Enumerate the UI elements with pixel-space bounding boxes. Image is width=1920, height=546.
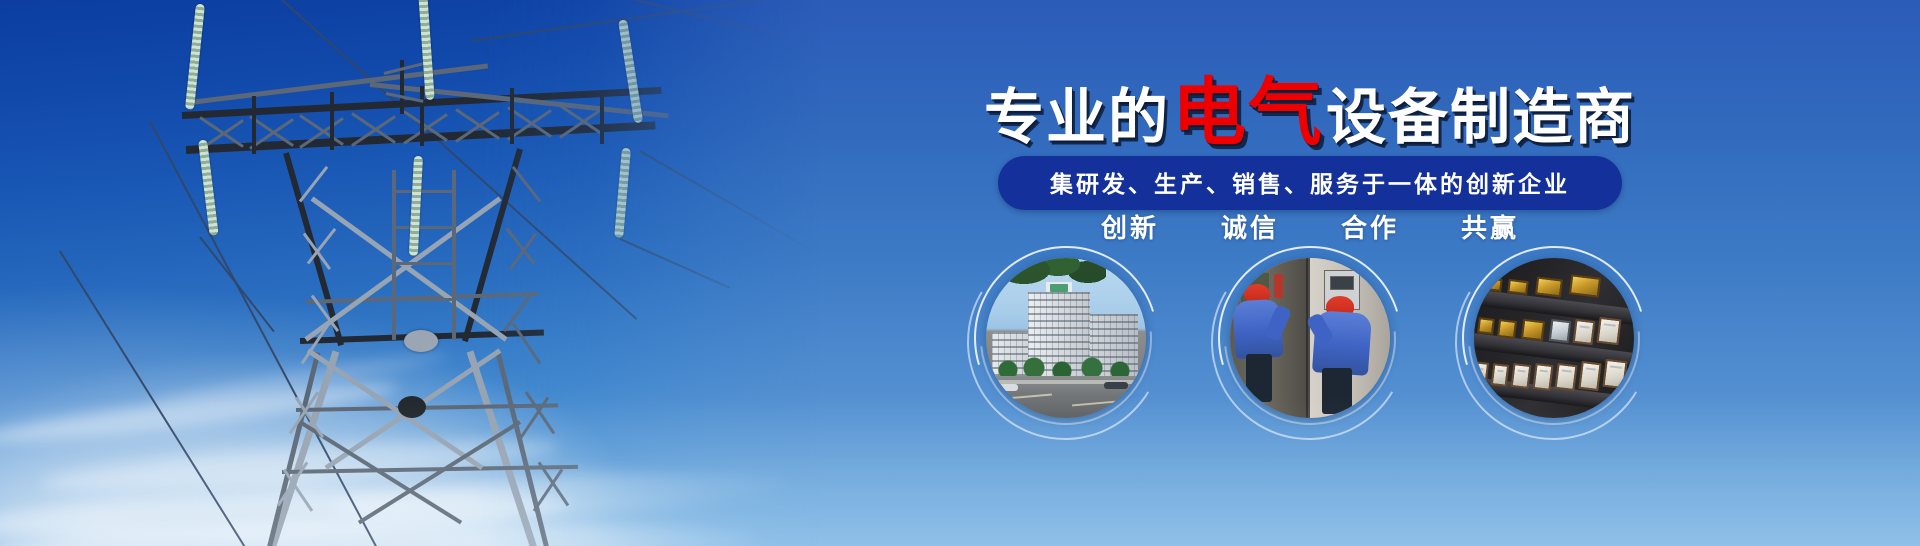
framed-certificate: [1532, 363, 1553, 391]
framed-certificate: [1596, 317, 1621, 345]
hero-banner: 专业的电气设备制造商 集研发、生产、销售、服务于一体的创新企业 创新 诚信 合作…: [0, 0, 1920, 546]
tower-x-brace: [311, 196, 508, 341]
power-line: [59, 250, 315, 546]
worker-legs: [1246, 354, 1272, 402]
tower-post: [600, 92, 604, 144]
tower-post: [252, 96, 256, 154]
keyword-integrity: 诚信: [1221, 208, 1279, 245]
banner-content: 专业的电气设备制造商 集研发、生产、销售、服务于一体的创新企业 创新 诚信 合作…: [820, 0, 1920, 546]
jumper-wire: [620, 238, 730, 289]
gold-plaque: [1535, 276, 1563, 297]
tree-foliage: [1002, 258, 1106, 296]
gold-plaque: [1521, 319, 1545, 342]
office-building-photo: [986, 258, 1146, 418]
keyword-cooperation: 合作: [1341, 208, 1399, 245]
keyword-row: 创新 诚信 合作 共赢: [820, 208, 1800, 245]
jumper-wire: [199, 236, 274, 332]
insulator-string: [614, 148, 631, 238]
workers-photo: [1230, 258, 1390, 418]
gold-plaque: [1497, 319, 1517, 339]
headline-part2: 设备制造商: [1326, 83, 1636, 153]
lattice-tower: [0, 0, 820, 546]
certificate-wall-photo: [1474, 258, 1634, 418]
gold-plaque: [1477, 317, 1495, 335]
insulator-string: [409, 156, 423, 256]
keyword-innovation: 创新: [1101, 208, 1159, 245]
headline-part1: 专业的: [984, 83, 1170, 153]
framed-certificate: [1573, 319, 1596, 345]
tower-leg-inner: [262, 352, 320, 546]
tower-belt: [296, 403, 558, 412]
panel-display: [1330, 276, 1354, 290]
tower-lattice: [525, 391, 555, 434]
subtitle-pill-wrapper: 集研发、生产、销售、服务于一体的创新企业: [820, 156, 1800, 210]
tower-rung: [394, 298, 454, 301]
gold-plaque: [1483, 277, 1502, 292]
circle-workers-installation[interactable]: [1230, 258, 1390, 418]
power-line: [560, 0, 820, 84]
tower-inner-post: [452, 170, 456, 340]
tower-node-plate: [404, 330, 438, 352]
tower-post: [510, 88, 514, 144]
gold-plaque: [1569, 274, 1601, 298]
tower-rung: [394, 226, 454, 229]
power-line: [149, 120, 404, 546]
insulator-string: [198, 139, 219, 235]
tower-node-plate: [398, 396, 426, 418]
tower-post: [420, 86, 424, 146]
power-line: [249, 0, 637, 320]
tower-rung: [394, 262, 454, 265]
headline-highlight: 电气: [1172, 70, 1324, 156]
gold-plaque: [1507, 279, 1529, 295]
circle-photo-row: [820, 258, 1800, 418]
tower-inner-post: [392, 170, 396, 340]
tower-lattice: [512, 166, 541, 203]
power-line: [640, 150, 820, 301]
circle-certificate-wall[interactable]: [1474, 258, 1634, 418]
tower-rung: [394, 190, 454, 193]
page-title: 专业的电气设备制造商: [820, 76, 1800, 150]
tower-lattice: [506, 228, 535, 265]
framed-certificate: [1491, 363, 1510, 387]
worker-legs: [1322, 368, 1352, 414]
keyword-winwin: 共赢: [1461, 208, 1519, 245]
silver-plaque: [1549, 319, 1572, 343]
transmission-tower-photo: [0, 0, 820, 546]
framed-certificate: [1554, 363, 1577, 391]
insulator-string: [185, 4, 205, 110]
framed-certificate: [1602, 359, 1627, 389]
framed-certificate: [1511, 363, 1532, 389]
tower-post: [330, 92, 334, 150]
power-line: [470, 0, 820, 41]
photo-split-divider: [1306, 258, 1310, 418]
framed-certificate: [1578, 361, 1601, 391]
framed-certificate: [1474, 361, 1489, 383]
fire-extinguisher: [1274, 274, 1283, 298]
subtitle-pill: 集研发、生产、销售、服务于一体的创新企业: [998, 156, 1622, 210]
circle-office-building[interactable]: [986, 258, 1146, 418]
parked-car: [1104, 382, 1128, 389]
parked-car: [998, 384, 1018, 391]
